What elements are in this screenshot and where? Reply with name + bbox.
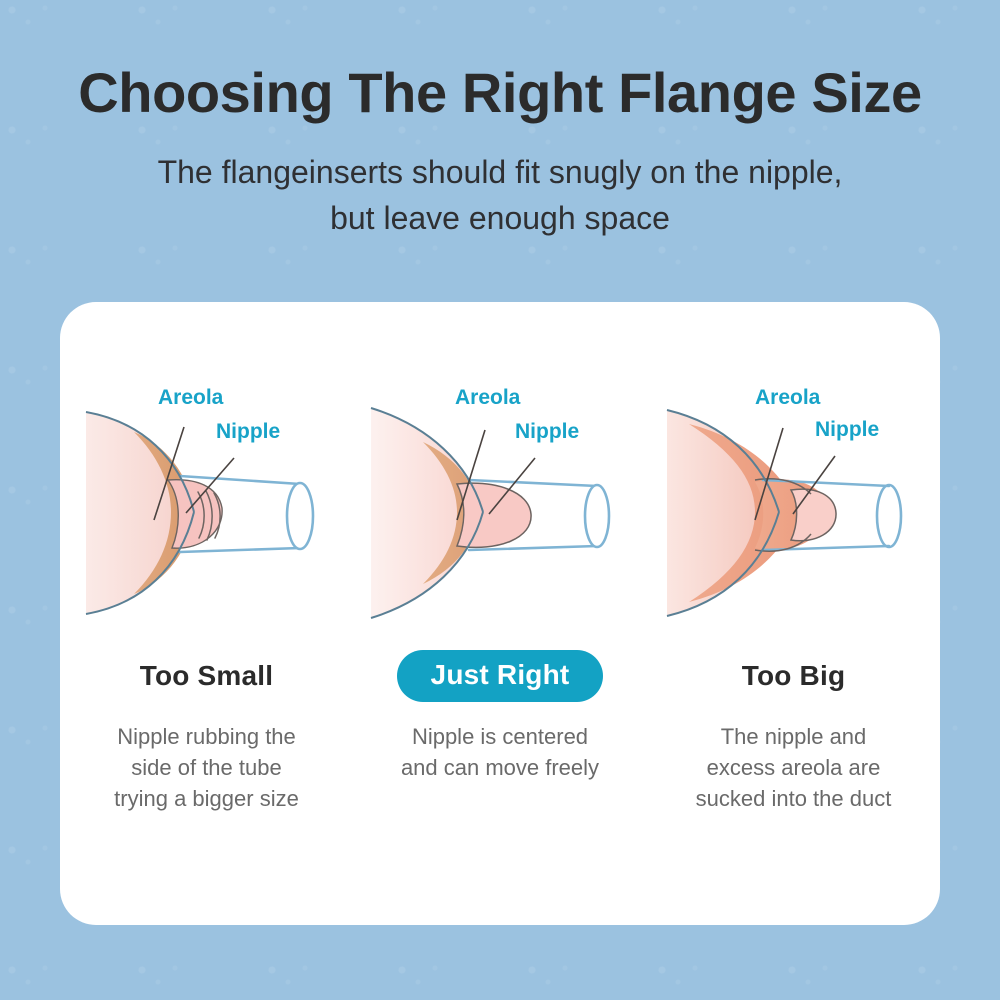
page-subtitle: The flangeinserts should fit snugly on t… (0, 123, 1000, 242)
label-areola: Areola (755, 386, 821, 409)
illustration-too-small: Areola Nipple (72, 380, 342, 645)
subtitle-line-1: The flangeinserts should fit snugly on t… (158, 154, 843, 190)
label-nipple: Nipple (515, 420, 579, 443)
panel-too-big: Areola Nipple Too Big The nipple and exc… (647, 302, 940, 925)
desc-line-2: excess areola are (707, 755, 881, 780)
nipple-shape (791, 489, 836, 541)
illustration-just-right: Areola Nipple (365, 380, 635, 645)
desc-line-3: sucked into the duct (696, 786, 892, 811)
tube-opening (877, 485, 901, 547)
description-too-big: The nipple and excess areola are sucked … (661, 721, 926, 815)
heading-just-right[interactable]: Just Right (397, 653, 604, 699)
subtitle-line-2: but leave enough space (330, 200, 670, 236)
desc-line-1: The nipple and (721, 724, 867, 749)
panel-too-small: Areola Nipple Too Small Nipple rubbing t… (60, 302, 353, 925)
heading-too-big: Too Big (742, 653, 846, 699)
heading-text: Too Big (742, 660, 846, 692)
desc-line-2: and can move freely (401, 755, 599, 780)
header: Choosing The Right Flange Size The flang… (0, 0, 1000, 242)
label-areola: Areola (158, 386, 224, 409)
label-nipple: Nipple (216, 420, 280, 443)
heading-text: Too Small (140, 660, 274, 692)
status-badge: Just Right (397, 650, 604, 702)
page-title: Choosing The Right Flange Size (0, 0, 1000, 123)
desc-line-1: Nipple is centered (412, 724, 588, 749)
description-just-right: Nipple is centered and can move freely (368, 721, 633, 783)
description-too-small: Nipple rubbing the side of the tube tryi… (74, 721, 339, 815)
desc-line-2: side of the tube (131, 755, 281, 780)
comparison-card: Areola Nipple Too Small Nipple rubbing t… (60, 302, 940, 925)
label-nipple: Nipple (815, 418, 879, 441)
desc-line-3: trying a bigger size (114, 786, 299, 811)
tube-opening (287, 483, 313, 549)
tube-opening (585, 485, 609, 547)
illustration-too-big: Areola Nipple (659, 380, 929, 645)
heading-too-small: Too Small (140, 653, 274, 699)
desc-line-1: Nipple rubbing the (117, 724, 296, 749)
panel-just-right: Areola Nipple Just Right Nipple is cente… (354, 302, 647, 925)
label-areola: Areola (455, 386, 521, 409)
